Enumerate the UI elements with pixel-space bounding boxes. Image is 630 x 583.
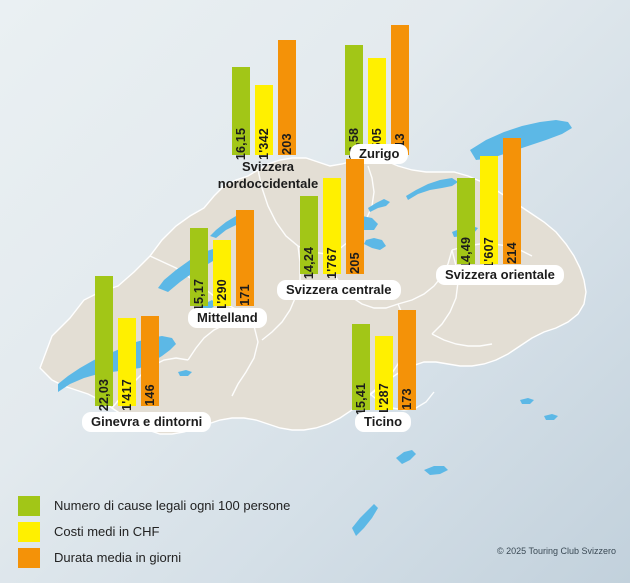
bar-group-mittelland: 15,17 1'290 171 xyxy=(190,210,262,306)
region-label-ticino: Ticino xyxy=(355,412,411,432)
bar-group-ticino: 15,41 1'287 173 xyxy=(352,310,424,410)
bar-group-orientale: 14,49 1'607 214 xyxy=(457,138,529,264)
region-label-orientale: Svizzera orientale xyxy=(436,265,564,285)
bar-mittelland-orange: 171 xyxy=(236,210,254,306)
bar-value-ticino-orange: 173 xyxy=(400,388,414,409)
bar-value-nordoccidentale-green: 16,15 xyxy=(234,128,248,160)
bar-ginevra-green: 22,03 xyxy=(95,276,113,406)
bar-group-zurigo: 16,58 1'505 213 xyxy=(345,25,417,155)
region-label-mittelland: Mittelland xyxy=(188,308,267,328)
bar-mittelland-yellow: 1'290 xyxy=(213,240,231,306)
bar-zurigo-green: 16,58 xyxy=(345,45,363,155)
bar-orientale-green: 14,49 xyxy=(457,178,475,264)
yellow-swatch xyxy=(18,522,40,542)
bar-zurigo-orange: 213 xyxy=(391,25,409,155)
bar-group-nordoccidentale: 16,15 1'342 203 xyxy=(232,40,304,155)
bar-mittelland-green: 15,17 xyxy=(190,228,208,306)
legend-item-durata-media: Durata media in giorni xyxy=(18,545,290,571)
bar-centrale-green: 14,24 xyxy=(300,196,318,274)
bar-orientale-orange: 214 xyxy=(503,138,521,264)
legend-label-durata-media: Durata media in giorni xyxy=(54,548,181,568)
bar-value-ginevra-yellow: 1'417 xyxy=(120,379,134,411)
orange-swatch xyxy=(18,548,40,568)
bar-centrale-orange: 205 xyxy=(346,159,364,274)
bar-orientale-yellow: 1'607 xyxy=(480,156,498,264)
legend-label-cause-legali: Numero di cause legali ogni 100 persone xyxy=(54,496,290,516)
bar-value-ginevra-orange: 146 xyxy=(143,384,157,405)
bar-value-mittelland-green: 15,17 xyxy=(192,279,206,311)
bar-ginevra-orange: 146 xyxy=(141,316,159,406)
bar-ticino-green: 15,41 xyxy=(352,324,370,410)
bar-value-centrale-yellow: 1'767 xyxy=(325,247,339,279)
bar-value-centrale-orange: 205 xyxy=(348,252,362,273)
bar-value-orientale-orange: 214 xyxy=(505,242,519,263)
bar-value-ginevra-green: 22,03 xyxy=(97,379,111,411)
bar-value-mittelland-yellow: 1'290 xyxy=(215,279,229,311)
bar-value-nordoccidentale-yellow: 1'342 xyxy=(257,128,271,160)
bar-value-centrale-green: 14,24 xyxy=(302,247,316,279)
bar-nordoccidentale-orange: 203 xyxy=(278,40,296,155)
bar-ticino-yellow: 1'287 xyxy=(375,336,393,410)
green-swatch xyxy=(18,496,40,516)
bar-value-nordoccidentale-orange: 203 xyxy=(280,133,294,154)
legend-item-cause-legali: Numero di cause legali ogni 100 persone xyxy=(18,493,290,519)
region-label-ginevra: Ginevra e dintorni xyxy=(82,412,211,432)
bar-zurigo-yellow: 1'505 xyxy=(368,58,386,155)
bar-nordoccidentale-yellow: 1'342 xyxy=(255,85,273,155)
bar-ticino-orange: 173 xyxy=(398,310,416,410)
bar-nordoccidentale-green: 16,15 xyxy=(232,67,250,155)
copyright-notice: © 2025 Touring Club Svizzero xyxy=(497,546,616,556)
bar-centrale-yellow: 1'767 xyxy=(323,178,341,274)
bar-value-mittelland-orange: 171 xyxy=(238,284,252,305)
bar-ginevra-yellow: 1'417 xyxy=(118,318,136,406)
legend-item-costi-medi: Costi medi in CHF xyxy=(18,519,290,545)
bar-value-ticino-yellow: 1'287 xyxy=(377,383,391,415)
bar-value-ticino-green: 15,41 xyxy=(354,383,368,415)
infographic-canvas: 16,15 1'342 203 Svizzera nordoccidentale… xyxy=(0,0,630,583)
legend: Numero di cause legali ogni 100 persone … xyxy=(18,493,290,571)
region-label-centrale: Svizzera centrale xyxy=(277,280,401,300)
bar-group-ginevra: 22,03 1'417 146 xyxy=(95,276,167,406)
legend-label-costi-medi: Costi medi in CHF xyxy=(54,522,159,542)
bar-group-centrale: 14,24 1'767 205 xyxy=(300,178,372,274)
